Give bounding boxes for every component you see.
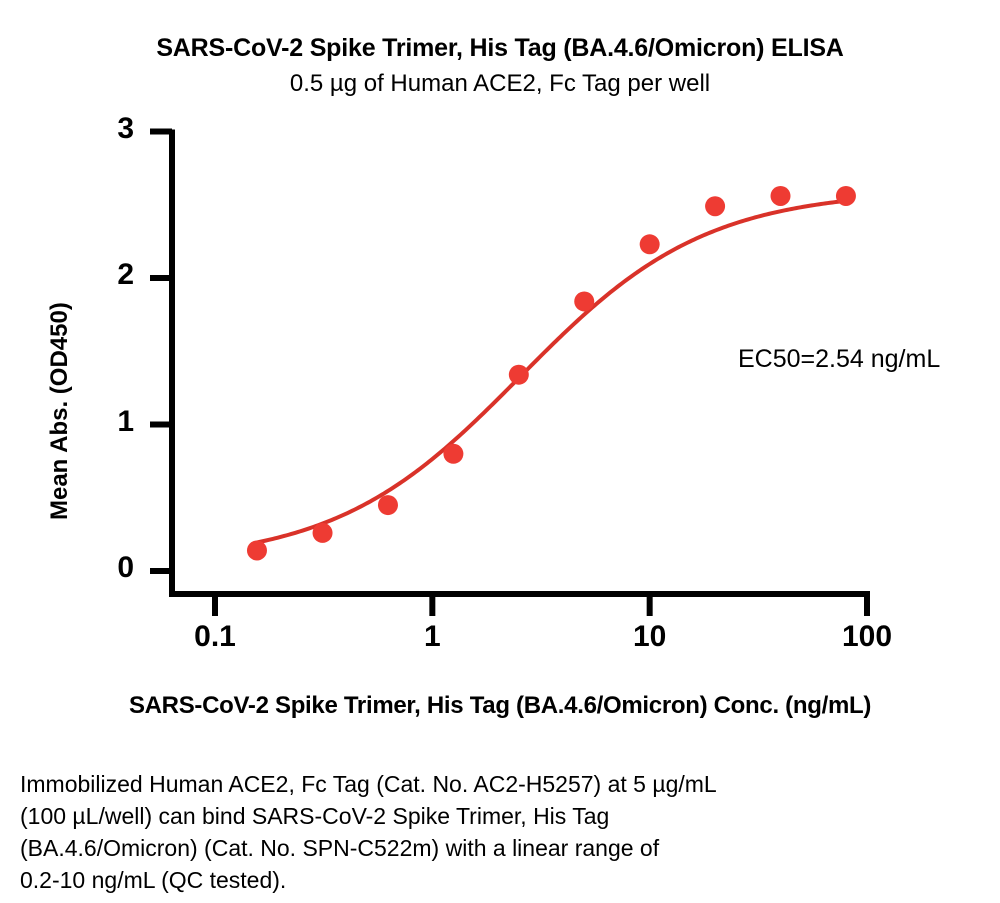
caption-line: (100 µL/well) can bind SARS-CoV-2 Spike … bbox=[20, 800, 980, 832]
y-tick-label: 0 bbox=[94, 551, 134, 585]
data-point bbox=[574, 291, 594, 311]
y-tick-label: 2 bbox=[94, 258, 134, 292]
caption-line: 0.2-10 ng/mL (QC tested). bbox=[20, 864, 980, 896]
figure-caption: Immobilized Human ACE2, Fc Tag (Cat. No.… bbox=[20, 768, 980, 896]
data-point bbox=[640, 234, 660, 254]
y-tick-label: 1 bbox=[94, 405, 134, 439]
data-point bbox=[705, 196, 725, 216]
data-point bbox=[247, 540, 267, 560]
y-axis-label: Mean Abs. (OD450) bbox=[24, 0, 52, 225]
x-axis-label: SARS-CoV-2 Spike Trimer, His Tag (BA.4.6… bbox=[0, 692, 1000, 720]
y-tick-label: 3 bbox=[94, 112, 134, 146]
data-point bbox=[771, 186, 791, 206]
caption-line: (BA.4.6/Omicron) (Cat. No. SPN-C522m) wi… bbox=[20, 832, 980, 864]
data-point bbox=[443, 444, 463, 464]
caption-line: Immobilized Human ACE2, Fc Tag (Cat. No.… bbox=[20, 768, 980, 800]
y-axis-label-text: Mean Abs. (OD450) bbox=[46, 220, 74, 520]
x-tick-label: 100 bbox=[807, 620, 927, 654]
elisa-figure: SARS-CoV-2 Spike Trimer, His Tag (BA.4.6… bbox=[0, 0, 1000, 903]
x-tick-label: 10 bbox=[590, 620, 710, 654]
x-tick-label: 1 bbox=[372, 620, 492, 654]
data-point bbox=[313, 523, 333, 543]
ec50-annotation: EC50=2.54 ng/mL bbox=[738, 345, 940, 374]
data-point bbox=[378, 495, 398, 515]
data-point bbox=[509, 365, 529, 385]
data-point bbox=[836, 186, 856, 206]
x-tick-label: 0.1 bbox=[155, 620, 275, 654]
